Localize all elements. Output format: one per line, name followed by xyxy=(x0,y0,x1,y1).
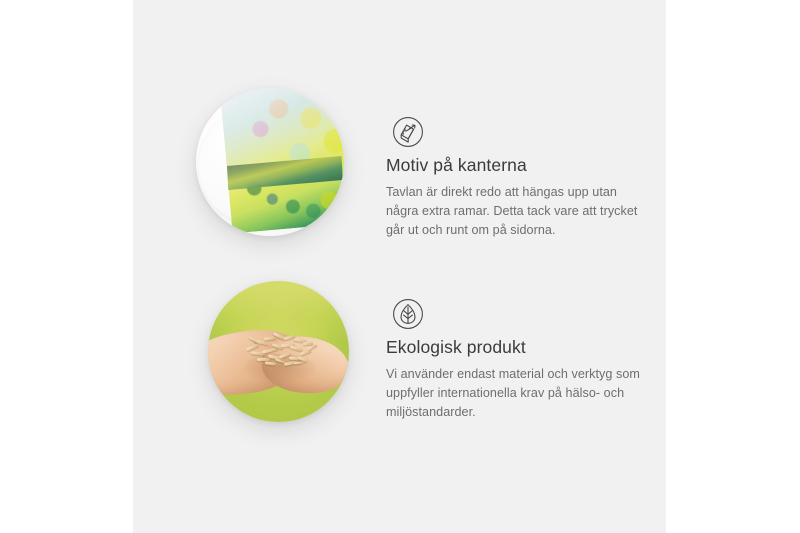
feature-title: Motiv på kanterna xyxy=(386,155,648,177)
feature-ekologisk-produkt: Ekologisk produkt Vi använder endast mat… xyxy=(133,193,666,459)
feature-text-block: Ekologisk produkt Vi använder endast mat… xyxy=(386,337,648,422)
feature-title: Ekologisk produkt xyxy=(386,337,648,359)
wood-chips-pile xyxy=(245,330,324,372)
hands-holding-wood-chips-photo xyxy=(208,281,349,422)
wood-chip xyxy=(275,358,285,363)
wood-chip xyxy=(290,346,303,352)
wood-chip xyxy=(265,361,276,365)
wood-chip xyxy=(263,336,275,340)
wood-chip xyxy=(257,358,271,361)
photo-circle-mask xyxy=(208,281,349,422)
feature-description: Vi använder endast material och verktyg … xyxy=(386,365,648,422)
product-feature-banner: Motiv på kanterna Tavlan är direkt redo … xyxy=(0,0,800,533)
wood-chip xyxy=(262,347,278,354)
wood-chip xyxy=(294,361,304,364)
canvas-wrapped-edges-icon xyxy=(388,112,428,152)
wood-chip xyxy=(303,342,313,346)
content-panel: Motiv på kanterna Tavlan är direkt redo … xyxy=(133,0,666,533)
leaf-icon xyxy=(388,294,428,334)
